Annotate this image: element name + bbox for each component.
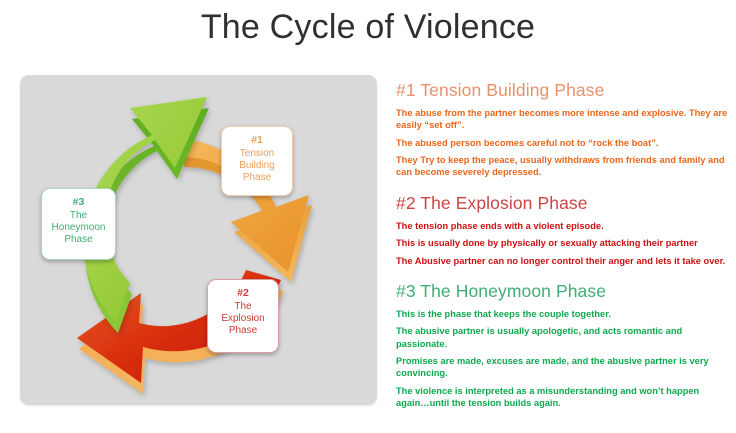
section-3-paragraph-3: Promises are made, excuses are made, and… [396,355,730,380]
phase-2-line2: Explosion [214,313,272,325]
phase-2-number: #2 [214,287,272,300]
section-2-heading: #2 The Explosion Phase [396,193,730,214]
section-3-heading: #3 The Honeymoon Phase [396,281,730,302]
section-3-paragraph-4: The violence is interpreted as a misunde… [396,385,730,410]
section-3-paragraph-1: This is the phase that keeps the couple … [396,308,730,320]
section-2-paragraph-2: This is usually done by physically or se… [396,237,730,249]
phase-3-line3: Phase [48,234,109,246]
phase-2-line1: The [214,301,272,313]
section-1-paragraph-3: They Try to keep the peace, usually with… [396,154,730,179]
phase-3-line1: The [48,210,109,222]
phase-box-honeymoon[interactable]: #3 The Honeymoon Phase [41,188,116,260]
section-2-paragraph-3: The Abusive partner can no longer contro… [396,255,730,267]
section-honeymoon: #3 The Honeymoon Phase This is the phase… [396,281,730,410]
phase-1-line3: Phase [228,172,286,184]
cycle-diagram-panel: #1 Tension Building Phase #2 The Explosi… [20,75,377,405]
phase-box-explosion[interactable]: #2 The Explosion Phase [207,279,279,353]
phase-3-number: #3 [48,196,109,209]
section-2-paragraph-1: The tension phase ends with a violent ep… [396,220,730,232]
page-title: The Cycle of Violence [0,8,736,47]
section-explosion: #2 The Explosion Phase The tension phase… [396,193,730,267]
section-1-paragraph-2: The abused person becomes careful not to… [396,137,730,149]
phase-descriptions-column: #1 Tension Building Phase The abuse from… [396,80,730,420]
phase-1-line1: Tension [228,148,286,160]
phase-1-number: #1 [228,134,286,147]
phase-3-line2: Honeymoon [48,222,109,234]
section-tension-building: #1 Tension Building Phase The abuse from… [396,80,730,179]
section-1-heading: #1 Tension Building Phase [396,80,730,101]
section-3-paragraph-2: The abusive partner is usually apologeti… [396,325,730,350]
section-1-paragraph-1: The abuse from the partner becomes more … [396,107,730,132]
phase-2-line3: Phase [214,325,272,337]
phase-1-line2: Building [228,160,286,172]
phase-box-tension-building[interactable]: #1 Tension Building Phase [221,126,293,196]
